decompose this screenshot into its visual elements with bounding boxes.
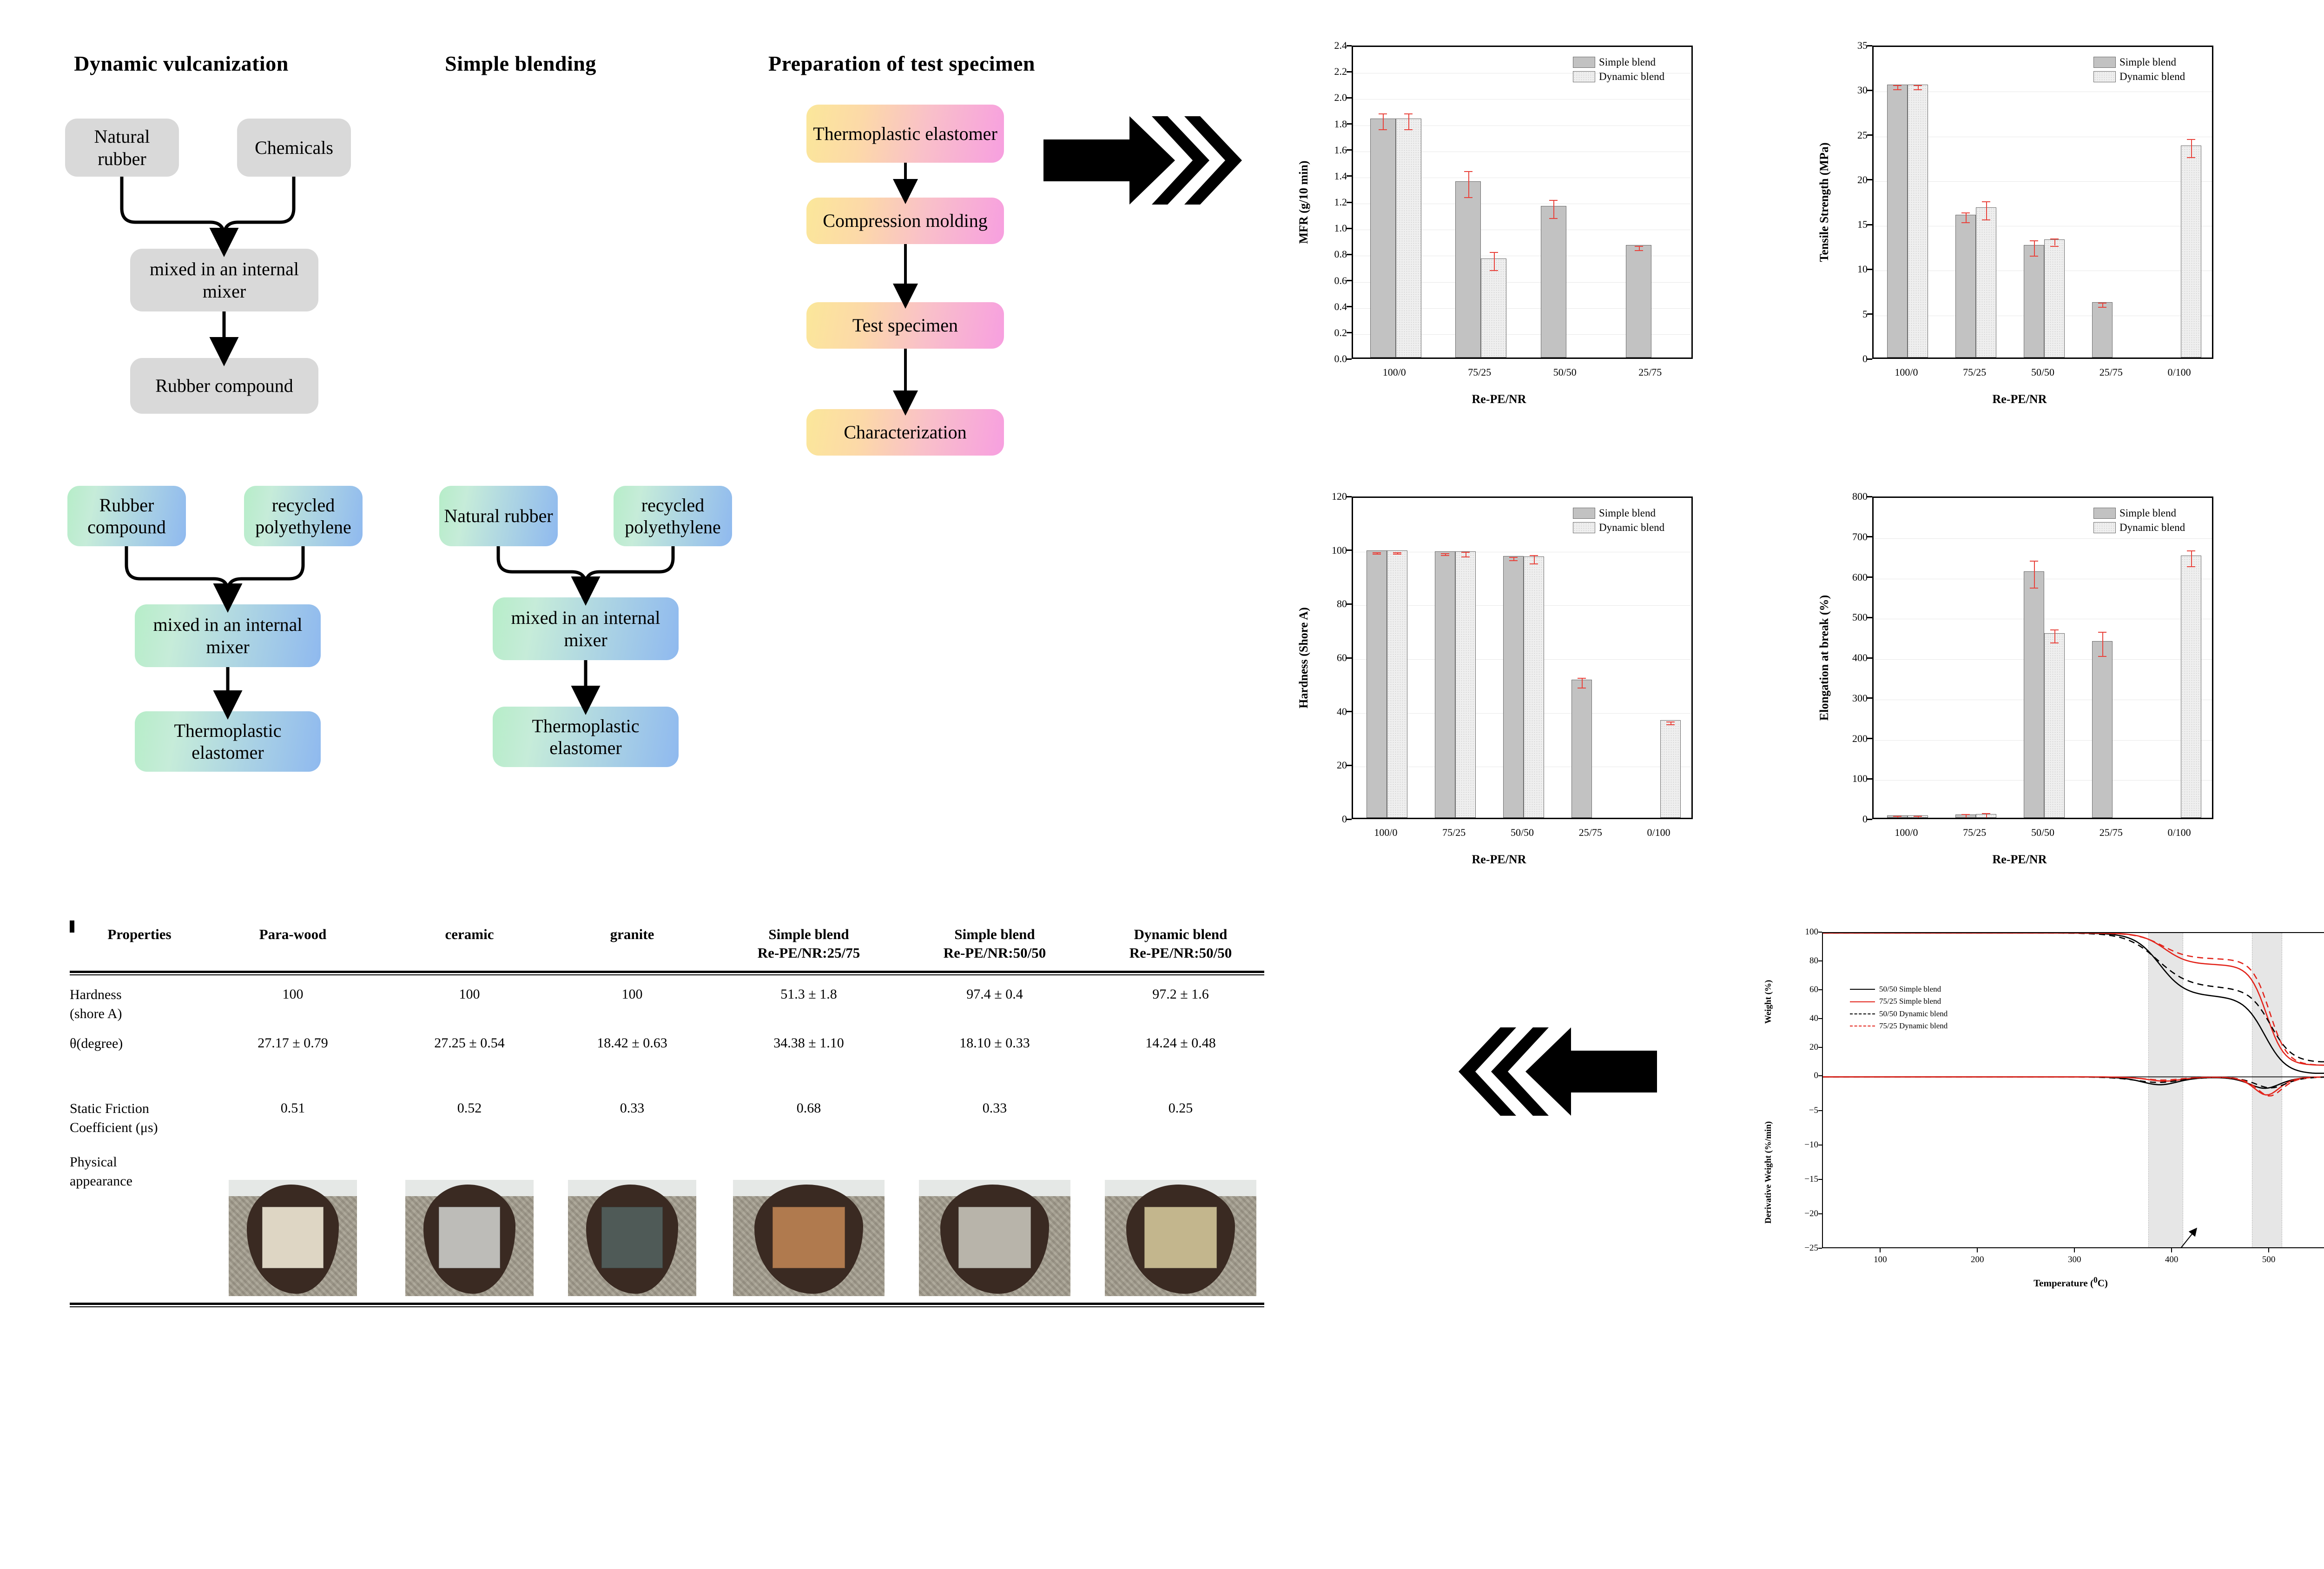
error-bar [1383, 113, 1384, 129]
y-tick [1347, 603, 1352, 605]
chart-tensile: Tensile Strength (MPa)05101520253035100/… [1817, 28, 2222, 418]
error-cap [2050, 246, 2059, 247]
y-tick-label: 10 [1839, 263, 1868, 275]
flow-box-thermoplastic-elastomer-1: Thermoplastic elastomer [135, 711, 321, 772]
y-tick [1347, 202, 1352, 203]
table-cell: 27.25 ± 0.54 [400, 1034, 539, 1052]
table-cell: 0.25 [1099, 1099, 1262, 1117]
y-tick [1347, 280, 1352, 281]
bar-mfr-75-25-simple [1455, 181, 1481, 357]
tga-curve-0-dtg [1823, 1077, 2324, 1088]
y-tick-label: 80 [1318, 598, 1347, 610]
specimen-photo-5 [1105, 1180, 1256, 1296]
bar-elongation-25-75-simple [2092, 641, 2113, 818]
tga-tick [1818, 1179, 1822, 1180]
y-tick [1347, 657, 1352, 659]
tga-tick [1818, 1075, 1822, 1076]
table-cell: 0.52 [400, 1099, 539, 1117]
error-cap [1982, 201, 1990, 202]
error-cap [2187, 550, 2195, 551]
table-row-label-line: Coefficient (μs) [70, 1119, 223, 1138]
flow-box-mixed-internal-mixer-3: mixed in an internal mixer [493, 597, 679, 660]
table-header-line: ceramic [400, 925, 539, 944]
y-tick-label: 15 [1839, 218, 1868, 231]
y-tick [1347, 149, 1352, 151]
y-tick [1867, 657, 1872, 659]
table-header-line: Simple blend [913, 925, 1076, 944]
y-tick-label: 2.2 [1318, 66, 1347, 78]
flow-box-compression-molding: Compression molding [806, 198, 1004, 244]
table-cell: 0.51 [223, 1099, 363, 1117]
tga-y-tick-bottom: −25 [1794, 1243, 1818, 1253]
tga-y-tick-top: 40 [1794, 1013, 1818, 1024]
bar-hardness-50-50-dynamic [1524, 556, 1544, 818]
y-tick [1867, 778, 1872, 780]
legend-label: Dynamic blend [1599, 520, 1664, 535]
bar-tensile-100-0-dynamic [1908, 85, 1928, 357]
error-cap [1666, 722, 1675, 722]
flow-box-natural-rubber: Natural rubber [65, 119, 179, 177]
error-cap [1373, 552, 1381, 553]
y-tick-label: 30 [1839, 84, 1868, 96]
y-tick-label: 0.2 [1318, 327, 1347, 339]
table-cell: 100 [562, 986, 702, 1003]
left-arrow-icon [1459, 1027, 1657, 1116]
y-tick-label: 300 [1839, 692, 1868, 704]
flow-box-mixed-internal-mixer-2: mixed in an internal mixer [135, 604, 321, 667]
legend-swatch-dynamic [1573, 522, 1595, 533]
error-cap [1404, 129, 1413, 130]
y-tick [1347, 175, 1352, 177]
y-tick-label: 400 [1839, 652, 1868, 664]
tga-y-tick-bottom: −10 [1794, 1140, 1818, 1150]
error-cap [1549, 218, 1558, 219]
tga-curve-1-dtg [1823, 1077, 2324, 1095]
y-tick [1867, 90, 1872, 91]
y-tick-label: 1.6 [1318, 144, 1347, 156]
y-tick-label: 800 [1839, 490, 1868, 503]
table-header-2: ceramic [400, 925, 539, 944]
y-tick [1347, 71, 1352, 73]
y-tick [1867, 45, 1872, 46]
plot-area [1872, 497, 2213, 819]
error-cap [1982, 813, 1990, 814]
y-tick-label: 1.2 [1318, 196, 1347, 208]
tga-x-tick: 100 [1874, 1255, 1887, 1265]
error-cap [1393, 552, 1401, 553]
specimen-tile [262, 1207, 324, 1269]
bar-hardness-0-100-dynamic [1660, 720, 1681, 818]
error-cap [1393, 554, 1401, 555]
chart-legend: Simple blendDynamic blend [1573, 55, 1664, 84]
error-cap [1530, 555, 1538, 556]
table-cell: 14.24 ± 0.48 [1099, 1034, 1262, 1052]
legend-item: Simple blend [1573, 55, 1664, 69]
chart-elongation: Elongation at break (%)01002003004005006… [1817, 479, 2222, 879]
error-cap [1982, 219, 1990, 220]
tga-x-axis-title: Temperature (0C) [1762, 1275, 2324, 1289]
x-tick-label: 75/25 [1963, 366, 1986, 378]
chart-legend: Simple blendDynamic blend [1573, 506, 1664, 535]
y-tick-label: 35 [1839, 40, 1868, 52]
tga-tick [2171, 1248, 2172, 1252]
tga-tick [1818, 1047, 1822, 1048]
x-tick-label: 75/25 [1442, 827, 1466, 839]
flow-box-test-specimen: Test specimen [806, 302, 1004, 349]
legend-label: Simple blend [1599, 55, 1656, 69]
y-tick [1347, 45, 1352, 46]
y-tick-label: 500 [1839, 611, 1868, 623]
bar-mfr-75-25-dynamic [1481, 258, 1506, 357]
tga-legend-label: 75/25 Dynamic blend [1879, 1020, 1948, 1032]
table-header-1: Para-wood [223, 925, 363, 944]
bar-hardness-100-0-dynamic [1387, 550, 1407, 818]
legend-item: Simple blend [2093, 506, 2185, 520]
table-bottom-rule [70, 1303, 1264, 1305]
y-tick [1347, 765, 1352, 766]
y-tick [1347, 332, 1352, 333]
error-cap [1961, 222, 1970, 223]
y-tick [1867, 224, 1872, 225]
tga-curve-3-dtg [1823, 1077, 2324, 1096]
tga-legend-item: 75/25 Dynamic blend [1850, 1020, 1948, 1032]
table-row-label-line: appearance [70, 1172, 223, 1191]
x-tick-label: 0/100 [1647, 827, 1670, 839]
table-header-4: Simple blendRe-PE/NR:25/75 [727, 925, 890, 963]
legend-item: Simple blend [1573, 506, 1664, 520]
tga-legend-line [1850, 1001, 1875, 1002]
y-axis-title: Elongation at break (%) [1817, 595, 1831, 721]
table-row-label-1: θ(degree) [70, 1034, 223, 1053]
tga-x-tick: 200 [1971, 1255, 1984, 1265]
y-tick-label: 0.4 [1318, 301, 1347, 313]
error-cap [1464, 197, 1472, 198]
chart-mfr: MFR (g/10 min)0.00.20.40.60.81.01.21.41.… [1297, 28, 1701, 418]
error-cap [1893, 85, 1901, 86]
y-tick-label: 20 [1318, 759, 1347, 771]
tga-y-tick-bottom: −15 [1794, 1174, 1818, 1185]
tga-y-tick-top: 20 [1794, 1042, 1818, 1053]
error-cap [2030, 561, 2038, 562]
properties-table: PropertiesPara-woodceramicgraniteSimple … [70, 920, 1418, 1385]
flow-box-thermoplastic-elastomer-3: Thermoplastic elastomer [806, 105, 1004, 163]
y-axis-title: Tensile Strength (MPa) [1817, 142, 1831, 262]
y-tick-label: 1.4 [1318, 170, 1347, 182]
y-tick-label: 700 [1839, 531, 1868, 543]
specimen-photo-2 [568, 1180, 696, 1296]
flow-box-natural-rubber-2: Natural rubber [439, 486, 558, 546]
error-cap [1509, 560, 1518, 561]
gridline [1874, 538, 2212, 539]
table-header-3: granite [562, 925, 702, 944]
y-tick [1867, 576, 1872, 578]
flow-box-recycled-polyethylene-1: recycled polyethylene [244, 486, 363, 546]
error-cap [1379, 129, 1387, 130]
table-row-label-3: Physicalappearance [70, 1153, 223, 1191]
error-cap [1509, 557, 1518, 558]
specimen-photo-1 [405, 1180, 534, 1296]
table-header-line: Re-PE/NR:50/50 [913, 944, 1076, 962]
column-title-dynamic-vulcanization: Dynamic vulcanization [37, 51, 325, 76]
specimen-tile [958, 1207, 1031, 1269]
tga-tick [2268, 1248, 2269, 1252]
error-cap [1914, 816, 1922, 817]
x-tick-label: 0/100 [2168, 366, 2191, 378]
specimen-tile [1144, 1207, 1217, 1269]
table-header-rule-thin [70, 974, 1264, 975]
right-arrow-icon [1043, 116, 1242, 205]
bar-tensile-75-25-simple [1955, 215, 1976, 357]
bar-tensile-0-100-dynamic [2181, 146, 2201, 357]
y-tick-label: 100 [1318, 544, 1347, 556]
y-tick [1347, 496, 1352, 497]
table-header-line: Dynamic blend [1099, 925, 1262, 944]
bar-hardness-50-50-simple [1503, 556, 1524, 818]
plot-area [1352, 497, 1693, 819]
tga-tick [1818, 932, 1822, 933]
tga-x-tick: 300 [2068, 1255, 2081, 1265]
y-tick-label: 1.0 [1318, 222, 1347, 234]
bar-tensile-50-50-simple [2024, 245, 2044, 357]
table-header-line: Simple blend [727, 925, 890, 944]
y-tick-label: 0.8 [1318, 248, 1347, 260]
tga-y-tick-top: 80 [1794, 956, 1818, 966]
x-tick-label: 100/0 [1383, 366, 1406, 378]
error-cap [1490, 252, 1498, 253]
table-cell: 100 [223, 986, 363, 1003]
bar-elongation-50-50-dynamic [2044, 633, 2065, 818]
y-tick-label: 1.8 [1318, 118, 1347, 130]
tga-legend-item: 50/50 Simple blend [1850, 983, 1948, 995]
error-bar [1582, 678, 1583, 688]
flow-box-mixed-internal-mixer-1: mixed in an internal mixer [130, 249, 318, 311]
error-cap [2050, 238, 2059, 239]
y-tick [1347, 254, 1352, 255]
error-cap [2030, 256, 2038, 257]
bar-mfr-25-75-simple [1626, 245, 1651, 357]
error-bar [1966, 212, 1967, 222]
y-tick-label: 60 [1318, 652, 1347, 664]
error-cap [2187, 157, 2195, 158]
tga-tick [1977, 1248, 1978, 1252]
annotation-arrow-0 [2176, 1231, 2195, 1248]
tga-legend-item: 50/50 Dynamic blend [1850, 1008, 1948, 1020]
legend-item: Dynamic blend [1573, 69, 1664, 84]
error-cap [2098, 632, 2106, 633]
x-axis-title: Re-PE/NR [1297, 853, 1701, 867]
table-cell: 100 [400, 986, 539, 1003]
x-tick-label: 0/100 [2168, 827, 2191, 839]
legend-item: Dynamic blend [2093, 69, 2185, 84]
error-cap [1490, 270, 1498, 271]
bar-hardness-75-25-simple [1435, 551, 1455, 818]
tga-tick [2074, 1248, 2075, 1252]
legend-label: Dynamic blend [1599, 69, 1664, 84]
y-axis-title: MFR (g/10 min) [1297, 160, 1311, 244]
table-cell: 0.33 [913, 1099, 1076, 1117]
tga-legend-line [1850, 1026, 1875, 1026]
table-header-rule [70, 971, 1264, 973]
specimen-photo-0 [229, 1180, 357, 1296]
error-cap [1961, 814, 1970, 815]
y-tick [1867, 496, 1872, 497]
y-axis-title: Hardness (Shore A) [1297, 607, 1311, 708]
y-tick [1347, 123, 1352, 125]
flow-box-chemicals: Chemicals [237, 119, 351, 177]
legend-swatch-simple [1573, 508, 1595, 519]
table-row-label-line: (shore A) [70, 1005, 223, 1024]
y-tick-label: 0.0 [1318, 353, 1347, 365]
error-bar [1408, 113, 1409, 129]
y-tick [1867, 358, 1872, 360]
error-bar [2054, 629, 2055, 642]
specimen-photo-4 [919, 1180, 1070, 1296]
error-cap [2098, 307, 2106, 308]
error-bar [2034, 240, 2035, 256]
error-cap [1404, 113, 1413, 114]
table-header-line: Properties [70, 925, 209, 944]
y-tick-label: 20 [1839, 174, 1868, 186]
y-tick-label: 2.0 [1318, 92, 1347, 104]
table-cell: 51.3 ± 1.8 [727, 986, 890, 1003]
table-header-6: Dynamic blendRe-PE/NR:50/50 [1099, 925, 1262, 963]
table-bottom-rule-thin [70, 1306, 1264, 1307]
error-cap [2098, 656, 2106, 657]
y-tick [1867, 179, 1872, 180]
legend-item: Dynamic blend [1573, 520, 1664, 535]
legend-swatch-dynamic [2093, 522, 2116, 533]
error-cap [1464, 171, 1472, 172]
tga-y-axis-title-top: Weight (%) [1763, 980, 1774, 1023]
table-header-5: Simple blendRe-PE/NR:50/50 [913, 925, 1076, 963]
specimen-tile [439, 1207, 501, 1269]
error-cap [2030, 588, 2038, 589]
error-bar [2054, 238, 2055, 245]
tga-dtg-chart: Weight (%)Derivative Weight (%/min)First… [1762, 923, 2324, 1304]
x-tick-label: 50/50 [2031, 366, 2054, 378]
table-row-label-line: Static Friction [70, 1099, 223, 1119]
y-tick [1347, 306, 1352, 307]
bar-hardness-25-75-simple [1571, 680, 1592, 818]
y-tick [1347, 711, 1352, 712]
error-bar [1553, 200, 1554, 218]
table-cell: 0.33 [562, 1099, 702, 1117]
error-cap [2098, 303, 2106, 304]
bar-tensile-50-50-dynamic [2044, 239, 2065, 357]
table-row-label-0: Hardness(shore A) [70, 986, 223, 1023]
legend-swatch-simple [2093, 57, 2116, 68]
y-tick-label: 120 [1318, 490, 1347, 503]
table-row-label-line: Physical [70, 1153, 223, 1172]
y-tick [1347, 819, 1352, 820]
x-tick-label: 25/75 [1638, 366, 1662, 378]
tga-legend-item: 75/25 Simple blend [1850, 995, 1948, 1007]
tga-legend-label: 75/25 Simple blend [1879, 995, 1941, 1007]
table-row-label-line: θ(degree) [70, 1034, 223, 1053]
tga-y-tick-top: 100 [1794, 927, 1818, 937]
x-tick-label: 100/0 [1895, 366, 1918, 378]
y-tick-label: 0 [1318, 813, 1347, 825]
tga-tick [1818, 1145, 1822, 1145]
legend-item: Dynamic blend [2093, 520, 2185, 535]
tga-tick [1818, 989, 1822, 990]
error-cap [1893, 89, 1901, 90]
tga-x-tick: 500 [2262, 1255, 2276, 1265]
error-cap [1893, 816, 1901, 817]
tga-curve-2-dtg [1823, 1077, 2324, 1088]
x-tick-label: 75/25 [1468, 366, 1491, 378]
chart-hardness: Hardness (Shore A)020406080100120100/075… [1297, 479, 1701, 879]
table-header-line: Para-wood [223, 925, 363, 944]
table-header-line: Re-PE/NR:50/50 [1099, 944, 1262, 962]
table-cell: 18.10 ± 0.33 [913, 1034, 1076, 1052]
error-bar [2102, 632, 2103, 656]
bar-hardness-75-25-dynamic [1455, 551, 1476, 818]
error-cap [1578, 688, 1586, 689]
table-cell: 97.4 ± 0.4 [913, 986, 1076, 1003]
error-cap [2050, 629, 2059, 630]
error-bar [1468, 171, 1469, 197]
flow-box-rubber-compound-2: Rubber compound [67, 486, 186, 546]
y-tick [1867, 134, 1872, 136]
x-tick-label: 25/75 [2100, 827, 2123, 839]
error-bar [2034, 561, 2035, 587]
error-cap [1379, 113, 1387, 114]
error-bar [2191, 550, 2192, 567]
y-tick-label: 0 [1839, 353, 1868, 365]
y-tick-label: 25 [1839, 129, 1868, 141]
x-axis-title: Re-PE/NR [1817, 392, 2222, 406]
y-tick-label: 2.4 [1318, 40, 1347, 52]
flow-box-characterization: Characterization [806, 409, 1004, 456]
legend-swatch-dynamic [2093, 71, 2116, 82]
tga-legend-line [1850, 1013, 1875, 1014]
specimen-photo-3 [733, 1180, 885, 1296]
legend-label: Simple blend [2119, 55, 2176, 69]
tga-legend-label: 50/50 Dynamic blend [1879, 1008, 1948, 1020]
bar-mfr-50-50-simple [1541, 206, 1566, 357]
specimen-tile [601, 1207, 663, 1269]
table-cell: 0.68 [727, 1099, 890, 1117]
error-cap [1461, 552, 1470, 553]
table-cell: 97.2 ± 1.6 [1099, 986, 1262, 1003]
tga-x-tick: 400 [2165, 1255, 2179, 1265]
error-cap [1530, 563, 1538, 564]
error-cap [1373, 554, 1381, 555]
tga-y-tick-bottom: −20 [1794, 1209, 1818, 1219]
x-axis-title: Re-PE/NR [1297, 392, 1701, 406]
bar-elongation-0-100-dynamic [2181, 556, 2201, 818]
x-axis-title: Re-PE/NR [1817, 853, 2222, 867]
legend-swatch-dynamic [1573, 71, 1595, 82]
error-cap [1635, 246, 1643, 247]
bar-elongation-50-50-simple [2024, 571, 2044, 818]
flow-box-thermoplastic-elastomer-2: Thermoplastic elastomer [493, 707, 679, 767]
table-header-line: Re-PE/NR:25/75 [727, 944, 890, 962]
tga-legend-label: 50/50 Simple blend [1879, 983, 1941, 995]
error-bar [1986, 201, 1987, 219]
y-tick [1347, 358, 1352, 360]
error-cap [2187, 566, 2195, 567]
tga-y-tick-bottom: −5 [1794, 1106, 1818, 1116]
y-tick-label: 600 [1839, 571, 1868, 583]
legend-label: Dynamic blend [2119, 520, 2185, 535]
y-tick-label: 5 [1839, 308, 1868, 320]
tga-tick [1818, 1213, 1822, 1214]
legend-item: Simple blend [2093, 55, 2185, 69]
tga-tick [1818, 1248, 1822, 1249]
x-tick-label: 50/50 [2031, 827, 2054, 839]
